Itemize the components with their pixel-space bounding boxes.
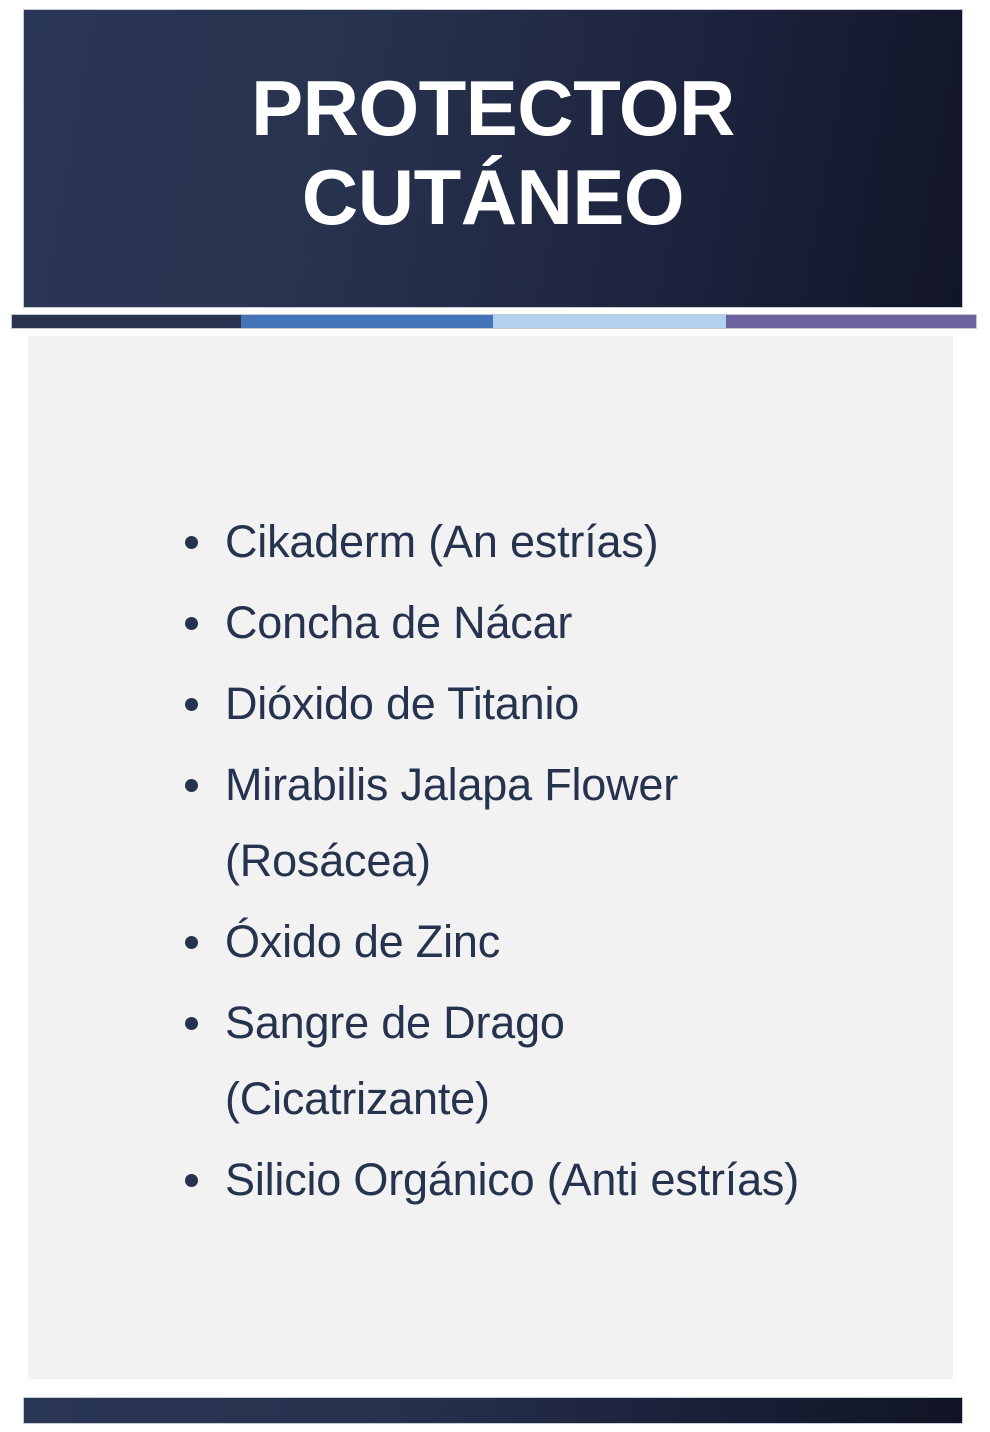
list-item: Cikaderm (An estrías) (157, 504, 817, 580)
accent-segment-purple (726, 315, 976, 328)
list-item-label: Cikaderm (An estrías) (225, 516, 658, 567)
bullet-dot-icon (185, 536, 198, 549)
list-item-label: Silicio Orgánico (Anti estrías) (225, 1154, 799, 1205)
list-item-label: Sangre de Drago (Cicatrizante) (225, 997, 565, 1124)
list-item-label: Dióxido de Titanio (225, 678, 579, 729)
bullet-dot-icon (185, 1017, 198, 1030)
slide-canvas: PROTECTOR CUTÁNEO Cikaderm (An estrías)C… (0, 0, 990, 1432)
accent-color-bar (11, 314, 977, 329)
accent-segment-blue (241, 315, 493, 328)
content-panel: Cikaderm (An estrías)Concha de NácarDióx… (28, 336, 953, 1379)
list-item-label: Concha de Nácar (225, 597, 572, 648)
header-banner: PROTECTOR CUTÁNEO (23, 9, 963, 308)
accent-segment-light-blue (493, 315, 726, 328)
list-item-label: Óxido de Zinc (225, 916, 500, 967)
list-item: Concha de Nácar (157, 585, 817, 661)
list-item: Dióxido de Titanio (157, 666, 817, 742)
list-item: Óxido de Zinc (157, 904, 817, 980)
list-item: Sangre de Drago (Cicatrizante) (157, 985, 817, 1137)
list-item: Mirabilis Jalapa Flower (Rosácea) (157, 747, 817, 899)
bullet-dot-icon (185, 779, 198, 792)
page-title: PROTECTOR CUTÁNEO (231, 64, 755, 242)
ingredient-list: Cikaderm (An estrías)Concha de NácarDióx… (157, 504, 817, 1223)
accent-segment-navy (12, 315, 241, 328)
bullet-dot-icon (185, 617, 198, 630)
footer-bar (23, 1397, 963, 1424)
list-item: Silicio Orgánico (Anti estrías) (157, 1142, 817, 1218)
bullet-dot-icon (185, 698, 198, 711)
list-item-label: Mirabilis Jalapa Flower (Rosácea) (225, 759, 678, 886)
bullet-dot-icon (185, 1174, 198, 1187)
bullet-dot-icon (185, 936, 198, 949)
